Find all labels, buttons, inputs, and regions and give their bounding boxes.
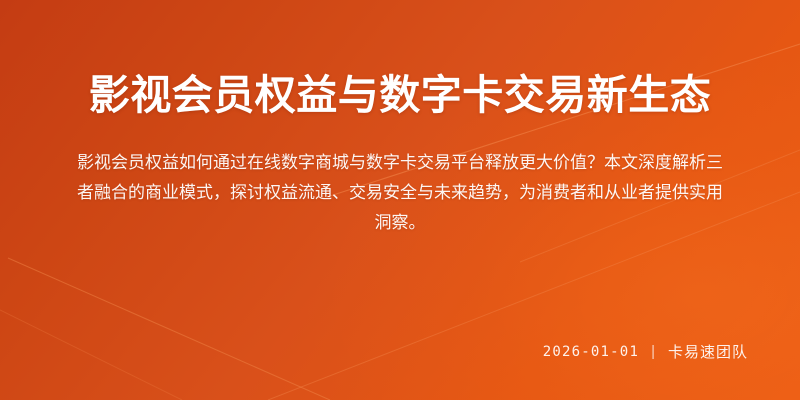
banner-content: 影视会员权益与数字卡交易新生态 影视会员权益如何通过在线数字商城与数字卡交易平台…	[0, 0, 800, 400]
page-subtitle: 影视会员权益如何通过在线数字商城与数字卡交易平台释放更大价值？本文深度解析三者融…	[75, 148, 725, 238]
article-hero-banner: 影视会员权益与数字卡交易新生态 影视会员权益如何通过在线数字商城与数字卡交易平台…	[0, 0, 800, 400]
page-title: 影视会员权益与数字卡交易新生态	[64, 70, 736, 120]
